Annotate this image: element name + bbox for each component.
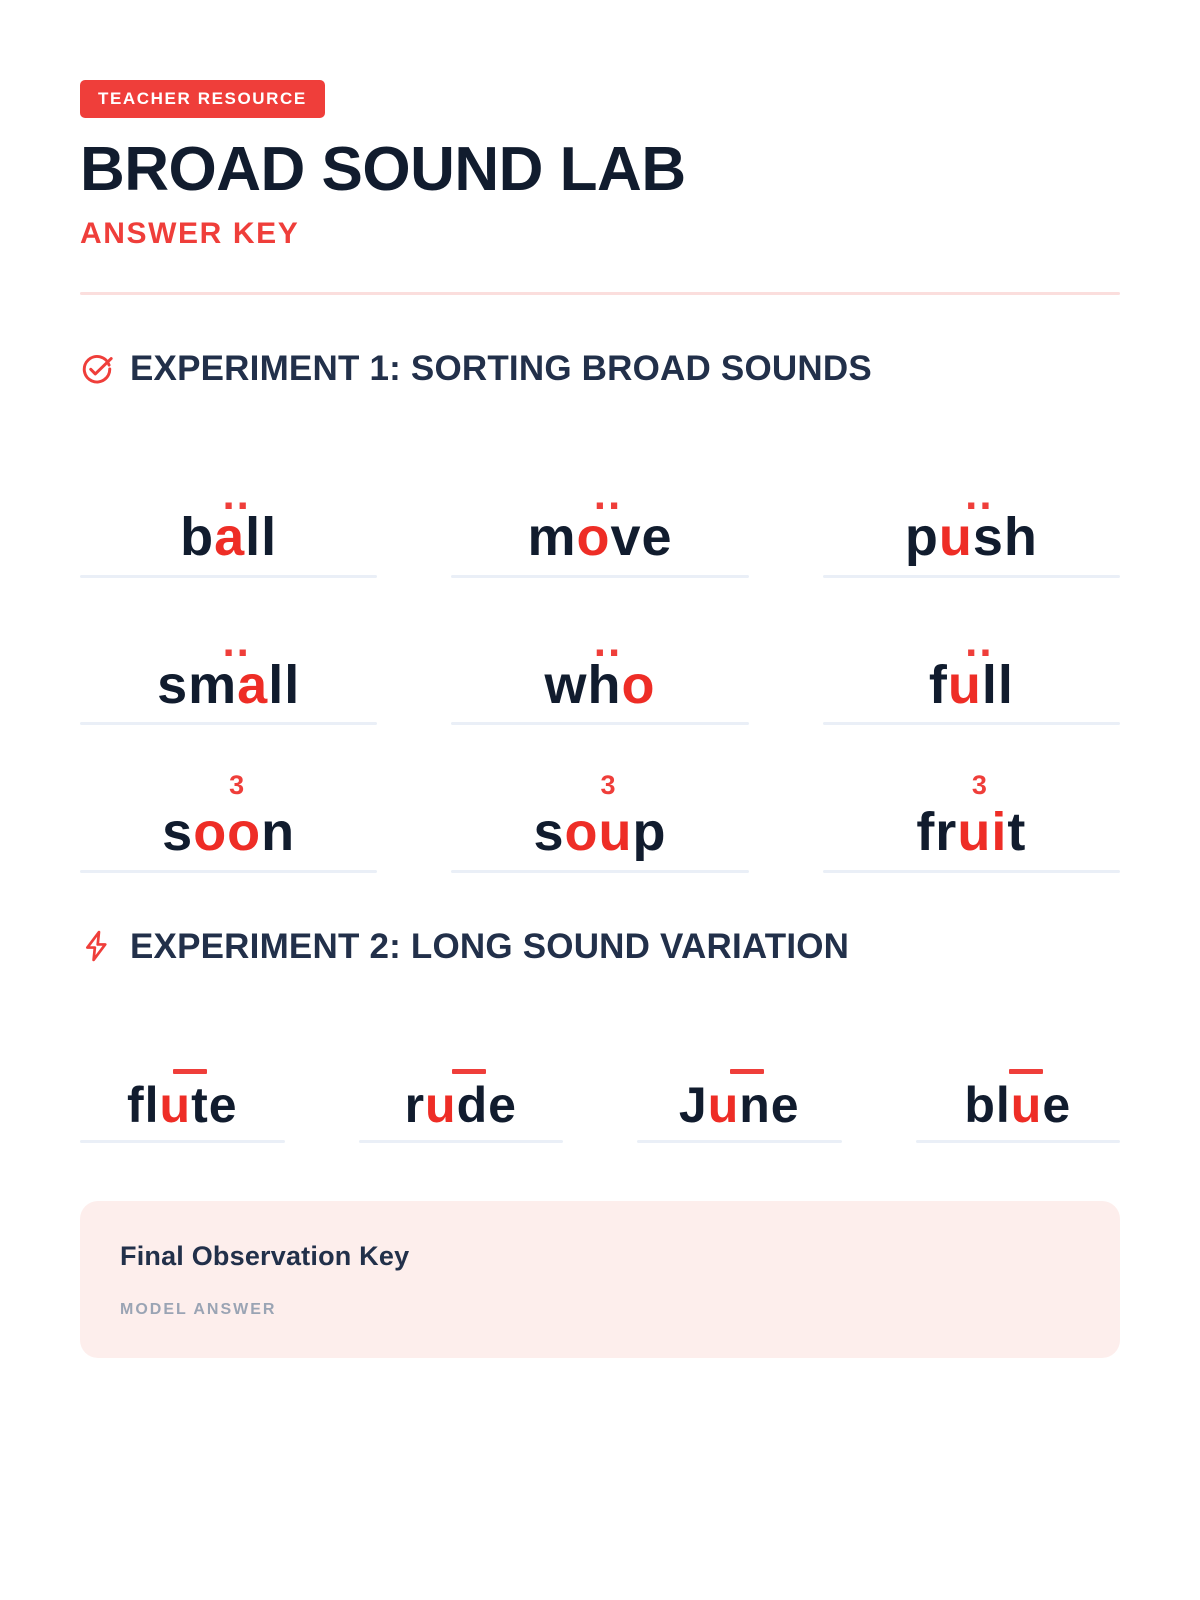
number-mark: 3 <box>600 772 615 799</box>
section-heading: EXPERIMENT 2: LONG SOUND VARIATION <box>80 929 1120 964</box>
number-mark: 3 <box>972 772 987 799</box>
word-suffix: te <box>191 1077 237 1133</box>
word-prefix: J <box>679 1077 708 1133</box>
word-underline <box>80 1140 285 1143</box>
word-prefix: s <box>533 802 564 862</box>
word-card[interactable]: ..small <box>80 578 377 726</box>
word-card[interactable]: 3soon <box>80 725 377 873</box>
section-title: EXPERIMENT 2: LONG SOUND VARIATION <box>130 929 849 964</box>
word-underline <box>359 1140 564 1143</box>
word-card[interactable]: ..move <box>451 430 748 578</box>
number-mark: 3 <box>229 772 244 799</box>
word-highlight: oo <box>193 802 261 862</box>
word-prefix: s <box>162 802 193 862</box>
observation-title: Final Observation Key <box>120 1243 1080 1270</box>
word-suffix: e <box>1042 1077 1071 1133</box>
phonetic-mark-slot: .. <box>594 622 622 652</box>
final-observation-panel: Final Observation Key MODEL ANSWER <box>80 1201 1120 1358</box>
word-highlight: ou <box>565 802 633 862</box>
observation-label: MODEL ANSWER <box>120 1302 1080 1318</box>
macron-mark <box>452 1069 486 1074</box>
section-heading: EXPERIMENT 1: SORTING BROAD SOUNDS <box>80 351 1120 386</box>
macron-mark <box>1009 1069 1043 1074</box>
diaeresis-mark: .. <box>222 633 250 651</box>
phonetic-mark-slot: .. <box>965 474 993 504</box>
section-title: EXPERIMENT 1: SORTING BROAD SOUNDS <box>130 351 872 386</box>
word-card[interactable]: blue <box>916 1016 1121 1143</box>
word-prefix: bl <box>964 1077 1010 1133</box>
word-prefix: b <box>180 507 214 567</box>
phonetic-mark-slot: .. <box>222 622 250 652</box>
phonetic-mark-slot <box>452 1044 486 1074</box>
header-divider <box>80 292 1120 295</box>
word-text: flute <box>127 1076 238 1134</box>
worksheet-page: TEACHER RESOURCE BROAD SOUND LAB ANSWER … <box>0 0 1200 1600</box>
diaeresis-mark: .. <box>965 486 993 504</box>
lightning-bolt-icon <box>80 929 114 963</box>
sections-container: EXPERIMENT 1: SORTING BROAD SOUNDS..ball… <box>80 351 1120 1143</box>
word-card[interactable]: 3fruit <box>823 725 1120 873</box>
word-suffix: n <box>261 802 295 862</box>
word-suffix: p <box>633 802 667 862</box>
word-card[interactable]: ..full <box>823 578 1120 726</box>
word-prefix: fl <box>127 1077 160 1133</box>
teacher-resource-badge: TEACHER RESOURCE <box>80 80 325 118</box>
word-text: fruit <box>916 801 1026 864</box>
word-card[interactable]: 3soup <box>451 725 748 873</box>
word-card[interactable]: ..who <box>451 578 748 726</box>
word-grid: fluterudeJuneblue <box>80 1016 1120 1143</box>
word-underline <box>823 870 1120 873</box>
phonetic-mark-slot: 3 <box>972 769 987 799</box>
word-prefix: fr <box>916 802 957 862</box>
page-subtitle: ANSWER KEY <box>80 219 1120 249</box>
phonetic-mark-slot: .. <box>594 474 622 504</box>
diaeresis-mark: .. <box>965 633 993 651</box>
word-highlight: u <box>160 1077 192 1133</box>
page-title: BROAD SOUND LAB <box>80 139 1120 201</box>
diaeresis-mark: .. <box>222 486 250 504</box>
word-suffix: de <box>457 1077 517 1133</box>
word-card[interactable]: flute <box>80 1016 285 1143</box>
phonetic-mark-slot: .. <box>965 622 993 652</box>
phonetic-mark-slot: .. <box>222 474 250 504</box>
word-text: soup <box>533 801 666 864</box>
word-card[interactable]: ..ball <box>80 430 377 578</box>
word-text: June <box>679 1076 800 1134</box>
phonetic-mark-slot <box>173 1044 207 1074</box>
word-underline <box>451 870 748 873</box>
phonetic-mark-slot: 3 <box>600 769 615 799</box>
word-card[interactable]: June <box>637 1016 842 1143</box>
word-text: blue <box>964 1076 1071 1134</box>
word-text: soon <box>162 801 295 864</box>
word-prefix: p <box>905 507 939 567</box>
word-prefix: r <box>405 1077 425 1133</box>
check-circle-icon <box>80 352 114 386</box>
word-suffix: t <box>1007 802 1026 862</box>
phonetic-mark-slot <box>730 1044 764 1074</box>
word-suffix: ll <box>268 655 300 715</box>
word-card[interactable]: rude <box>359 1016 564 1143</box>
word-underline <box>916 1140 1121 1143</box>
word-prefix: f <box>929 655 948 715</box>
word-highlight: ui <box>957 802 1007 862</box>
diaeresis-mark: .. <box>594 633 622 651</box>
word-highlight: u <box>1011 1077 1043 1133</box>
word-suffix: ne <box>739 1077 799 1133</box>
word-underline <box>80 870 377 873</box>
word-underline <box>637 1140 842 1143</box>
word-highlight: o <box>621 655 655 715</box>
word-grid: ..ball..move..push..small..who..full3soo… <box>80 430 1120 873</box>
phonetic-mark-slot <box>1009 1044 1043 1074</box>
phonetic-mark-slot: 3 <box>229 769 244 799</box>
macron-mark <box>730 1069 764 1074</box>
word-text: rude <box>405 1076 517 1134</box>
word-highlight: u <box>425 1077 457 1133</box>
word-card[interactable]: ..push <box>823 430 1120 578</box>
word-prefix: m <box>527 507 576 567</box>
macron-mark <box>173 1069 207 1074</box>
diaeresis-mark: .. <box>594 486 622 504</box>
word-highlight: u <box>708 1077 740 1133</box>
